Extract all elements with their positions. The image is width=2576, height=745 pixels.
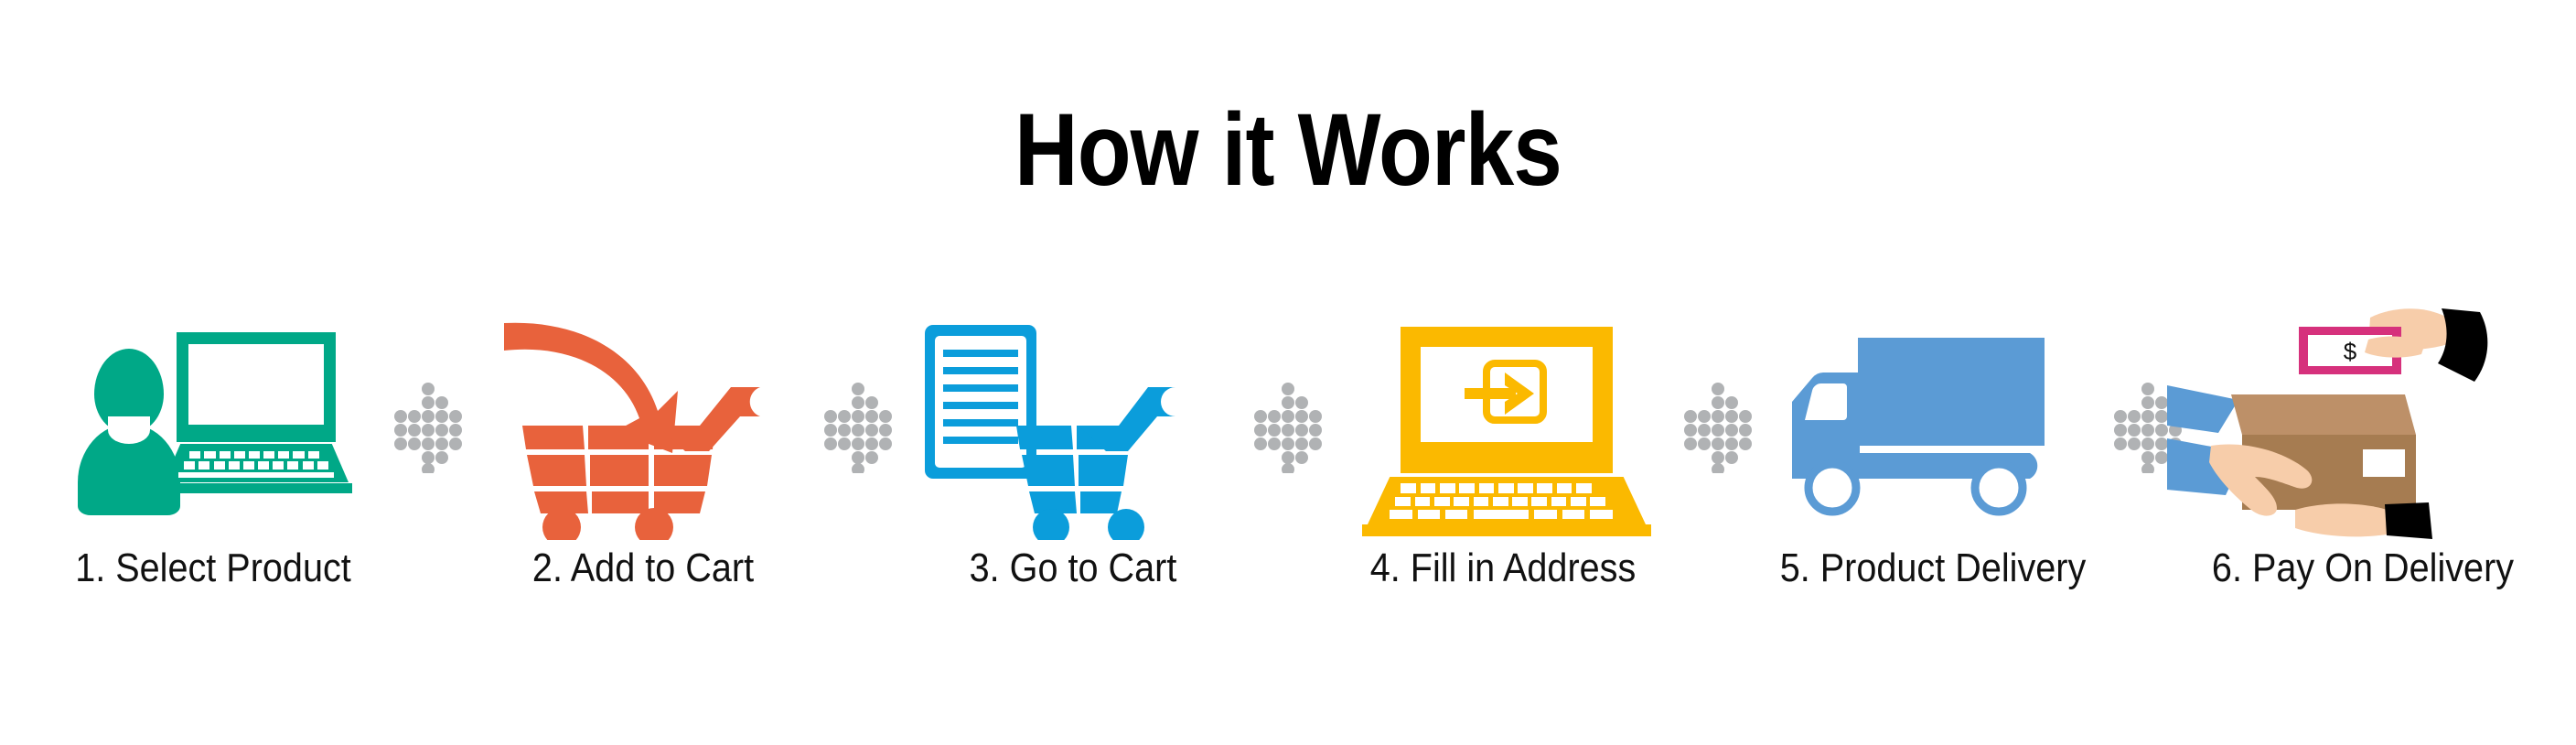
step-label: 3. Go to Cart xyxy=(917,547,1229,589)
login-arrow-icon xyxy=(1463,360,1551,431)
laptop-login-icon xyxy=(1329,316,1677,540)
dollar-symbol: $ xyxy=(2344,338,2357,365)
dotted-arrow-right-icon xyxy=(817,316,899,540)
step-2-add-to-cart[interactable]: 2. Add to Cart xyxy=(469,316,817,636)
cart-with-arrow-icon xyxy=(469,316,817,540)
step-label: 2. Add to Cart xyxy=(487,547,800,589)
step-label: 4. Fill in Address xyxy=(1347,547,1659,589)
step-label: 5. Product Delivery xyxy=(1776,547,2089,589)
person-at-laptop-icon xyxy=(39,316,387,540)
delivery-truck-icon xyxy=(1759,316,2107,540)
step-label: 1. Select Product xyxy=(57,547,370,589)
step-1-select-product[interactable]: 1. Select Product xyxy=(39,316,387,636)
step-4-fill-in-address[interactable]: 4. Fill in Address xyxy=(1329,316,1677,636)
step-label: 6. Pay On Delivery xyxy=(2206,547,2519,589)
dotted-arrow-right-icon xyxy=(1247,316,1329,540)
page-title: How it Works xyxy=(180,99,2396,201)
step-6-pay-on-delivery[interactable]: $ 6. Pay On Delivery xyxy=(2189,316,2537,636)
document-and-cart-icon xyxy=(899,316,1247,540)
dotted-arrow-right-icon xyxy=(2107,316,2189,540)
step-5-product-delivery[interactable]: 5. Product Delivery xyxy=(1759,316,2107,636)
cash-on-delivery-icon: $ xyxy=(2189,316,2537,540)
dotted-arrow-right-icon xyxy=(387,316,469,540)
step-3-go-to-cart[interactable]: 3. Go to Cart xyxy=(899,316,1247,636)
steps-row: 1. Select Product xyxy=(0,316,2576,636)
shipping-label xyxy=(2363,449,2405,477)
dotted-arrow-right-icon xyxy=(1677,316,1759,540)
